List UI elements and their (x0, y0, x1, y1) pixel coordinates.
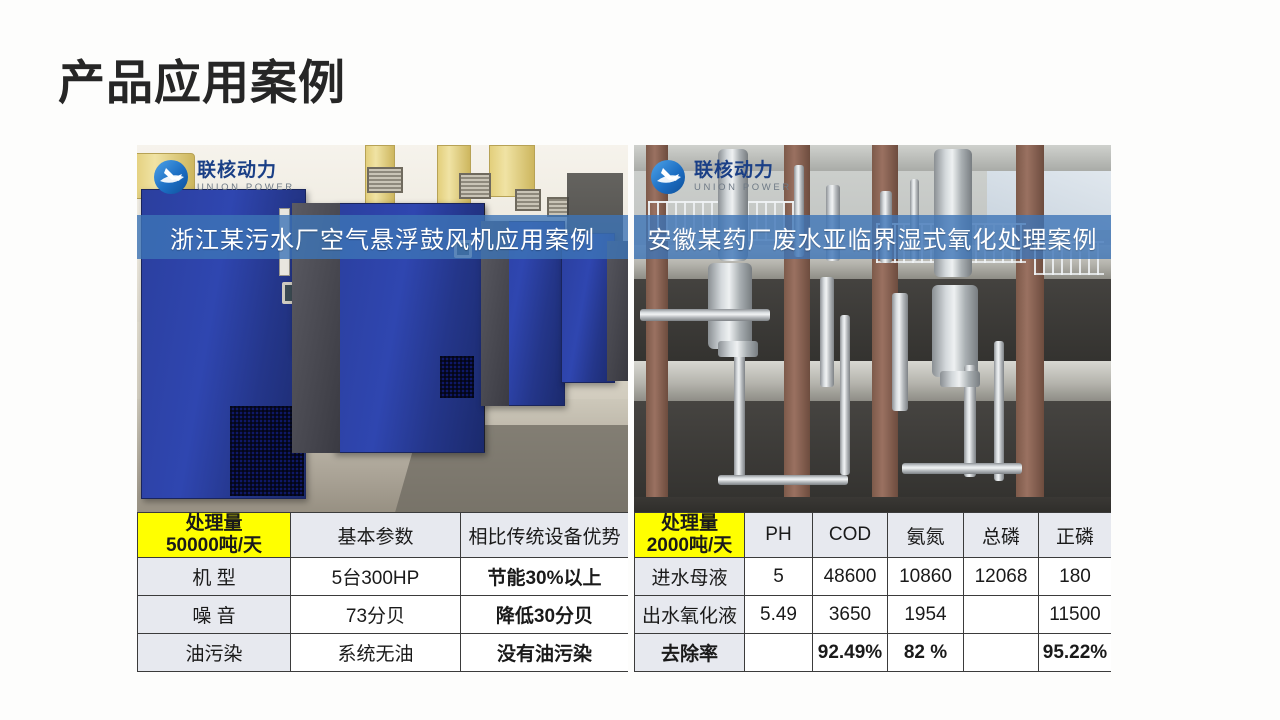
throughput-label: 处理量 (140, 513, 288, 535)
row-label-effluent: 出水氧化液 (635, 596, 745, 634)
throughput-value: 2000吨/天 (637, 535, 742, 557)
col-header-basic-params: 基本参数 (291, 513, 461, 558)
photo-pipe-8 (734, 351, 745, 479)
cell-influent-ammonia: 10860 (888, 558, 964, 596)
photo-pipe-horizontal-1 (640, 309, 770, 321)
throughput-header-cell: 处理量 2000吨/天 (635, 513, 745, 558)
brand-logo-right: 联核动力 UNION POWER (650, 159, 792, 195)
table-row: 去除率 92.49% 82 % 95.22% (635, 634, 1112, 672)
vent-grille-3 (515, 189, 541, 211)
union-power-swoosh-icon (650, 159, 686, 195)
table-row-header: 处理量 50000吨/天 基本参数 相比传统设备优势 (138, 513, 629, 558)
photo-pipe-5 (820, 277, 834, 387)
col-header-ammonia: 氨氮 (888, 513, 964, 558)
cell-model-value: 5台300HP (291, 558, 461, 596)
cell-removal-cod: 92.49% (813, 634, 888, 672)
brand-logo-text: 联核动力 UNION POWER (694, 161, 792, 193)
row-label-oil: 油污染 (138, 634, 291, 672)
cell-influent-tp: 12068 (964, 558, 1039, 596)
brand-name-cn: 联核动力 (694, 161, 792, 180)
cell-removal-ph (745, 634, 813, 672)
col-header-ph: PH (745, 513, 813, 558)
cell-noise-value: 73分贝 (291, 596, 461, 634)
vent-grille-2 (459, 173, 491, 199)
spec-table-left: 处理量 50000吨/天 基本参数 相比传统设备优势 机 型 5台300HP 节… (137, 512, 628, 672)
table-row: 进水母液 5 48600 10860 12068 180 (635, 558, 1112, 596)
cell-influent-op: 180 (1039, 558, 1112, 596)
photo-pipe-horizontal-3 (902, 463, 1022, 474)
brand-logo-text: 联核动力 UNION POWER (197, 161, 295, 193)
union-power-swoosh-icon (153, 159, 189, 195)
case-caption-right: 安徽某药厂废水亚临界湿式氧化处理案例 (634, 215, 1111, 259)
page-title: 产品应用案例 (58, 57, 346, 109)
cell-removal-tp (964, 634, 1039, 672)
cell-oil-value: 系统无油 (291, 634, 461, 672)
blower-unit-5 (607, 241, 628, 381)
cell-removal-ammonia: 82 % (888, 634, 964, 672)
cell-effluent-tp (964, 596, 1039, 634)
row-label-removal-rate: 去除率 (635, 634, 745, 672)
col-header-advantage: 相比传统设备优势 (461, 513, 629, 558)
brand-logo-left: 联核动力 UNION POWER (153, 159, 295, 195)
case-photo-left (137, 145, 628, 530)
spec-table-right: 处理量 2000吨/天 PH COD 氨氮 总磷 正磷 进水母液 5 48600… (634, 512, 1111, 672)
cell-removal-op: 95.22% (1039, 634, 1112, 672)
brand-name-en: UNION POWER (197, 183, 295, 193)
throughput-header-cell: 处理量 50000吨/天 (138, 513, 291, 558)
case-card-right: 联核动力 UNION POWER 安徽某药厂废水亚临界湿式氧化处理案例 处理量 … (634, 145, 1111, 672)
slide-root: 产品应用案例 (0, 0, 1280, 720)
cell-effluent-ammonia: 1954 (888, 596, 964, 634)
cell-oil-advantage: 没有油污染 (461, 634, 629, 672)
cell-influent-ph: 5 (745, 558, 813, 596)
photo-vessel-2 (708, 263, 752, 349)
col-header-cod: COD (813, 513, 888, 558)
row-label-influent: 进水母液 (635, 558, 745, 596)
col-header-ortho-phosphate: 正磷 (1039, 513, 1112, 558)
throughput-value: 50000吨/天 (140, 535, 288, 557)
vent-grille-4 (547, 197, 569, 217)
cell-noise-advantage: 降低30分贝 (461, 596, 629, 634)
table-row: 噪 音 73分贝 降低30分贝 (138, 596, 629, 634)
cell-effluent-cod: 3650 (813, 596, 888, 634)
case-caption-left: 浙江某污水厂空气悬浮鼓风机应用案例 (137, 215, 628, 259)
row-label-noise: 噪 音 (138, 596, 291, 634)
blower-air-grille-2 (440, 356, 474, 398)
photo-pipe-7 (892, 293, 908, 411)
vent-grille-1 (367, 167, 403, 193)
photo-flange-1 (718, 341, 758, 357)
cell-influent-cod: 48600 (813, 558, 888, 596)
case-card-left: 联核动力 UNION POWER 浙江某污水厂空气悬浮鼓风机应用案例 处理量 5… (137, 145, 628, 672)
photo-pipe-10 (994, 341, 1004, 481)
table-row: 机 型 5台300HP 节能30%以上 (138, 558, 629, 596)
row-label-model: 机 型 (138, 558, 291, 596)
cell-model-advantage: 节能30%以上 (461, 558, 629, 596)
photo-pipe-6 (840, 315, 850, 475)
photo-pipe-horizontal-2 (718, 475, 848, 485)
table-row: 出水氧化液 5.49 3650 1954 11500 (635, 596, 1112, 634)
table-row-header: 处理量 2000吨/天 PH COD 氨氮 总磷 正磷 (635, 513, 1112, 558)
brand-name-cn: 联核动力 (197, 161, 295, 180)
col-header-total-phosphorus: 总磷 (964, 513, 1039, 558)
brand-name-en: UNION POWER (694, 183, 792, 193)
throughput-label: 处理量 (637, 513, 742, 535)
case-photo-right (634, 145, 1111, 530)
table-row: 油污染 系统无油 没有油污染 (138, 634, 629, 672)
cell-effluent-op: 11500 (1039, 596, 1112, 634)
cell-effluent-ph: 5.49 (745, 596, 813, 634)
photo-flange-2 (940, 371, 980, 387)
photo-vessel-4 (932, 285, 978, 377)
